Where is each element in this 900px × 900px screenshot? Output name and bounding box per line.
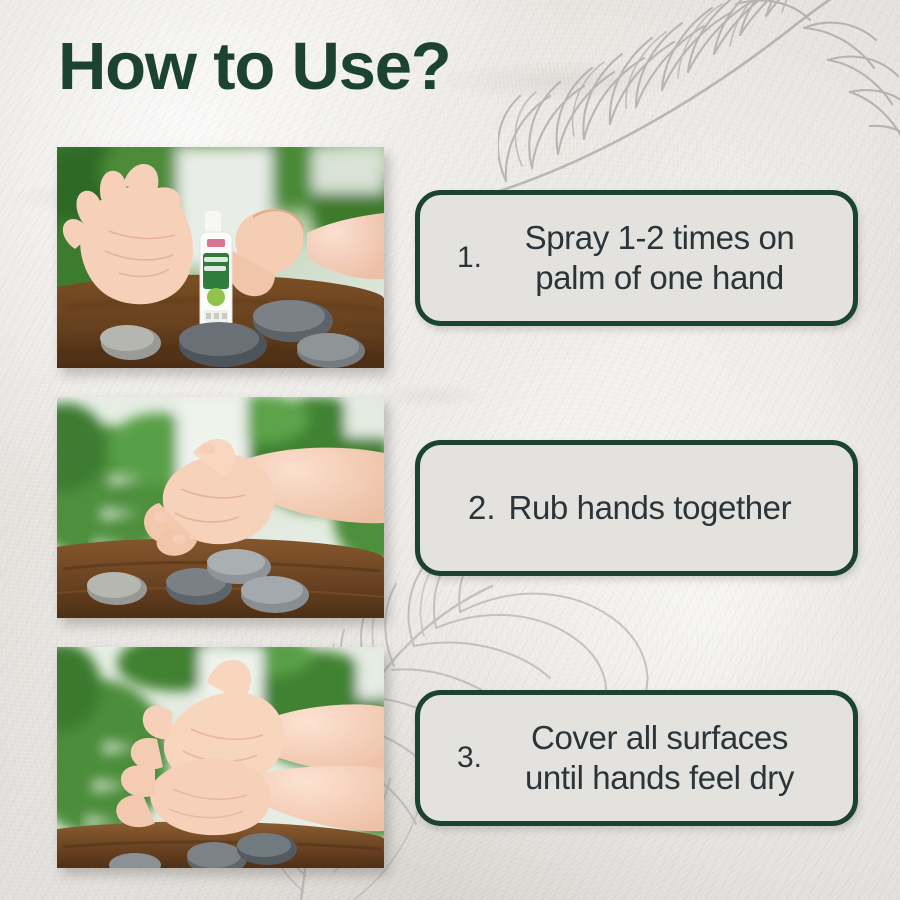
step-text-line-2: until hands feel dry bbox=[492, 758, 827, 798]
step-photo-1 bbox=[57, 147, 384, 368]
step-text-line-1: Spray 1-2 times on bbox=[492, 218, 827, 258]
step-photo-2 bbox=[57, 397, 384, 618]
page-title: How to Use? bbox=[58, 33, 451, 100]
step-text-3: Cover all surfaces until hands feel dry bbox=[492, 718, 853, 799]
poster-canvas: How to Use? bbox=[0, 0, 900, 900]
step-text-line-2: palm of one hand bbox=[492, 258, 827, 298]
step-box-3: 3. Cover all surfaces until hands feel d… bbox=[415, 690, 858, 826]
step-box-1: 1. Spray 1-2 times on palm of one hand bbox=[415, 190, 858, 326]
step-text-2: Rub hands together bbox=[496, 488, 853, 528]
step-number-2: 2. bbox=[420, 489, 496, 527]
step-box-2: 2. Rub hands together bbox=[415, 440, 858, 576]
step-text-1: Spray 1-2 times on palm of one hand bbox=[492, 218, 853, 299]
step-text-line-1: Cover all surfaces bbox=[492, 718, 827, 758]
step-number-1: 1. bbox=[420, 241, 492, 275]
step-number-3: 3. bbox=[420, 741, 492, 775]
step-photo-3 bbox=[57, 647, 384, 868]
